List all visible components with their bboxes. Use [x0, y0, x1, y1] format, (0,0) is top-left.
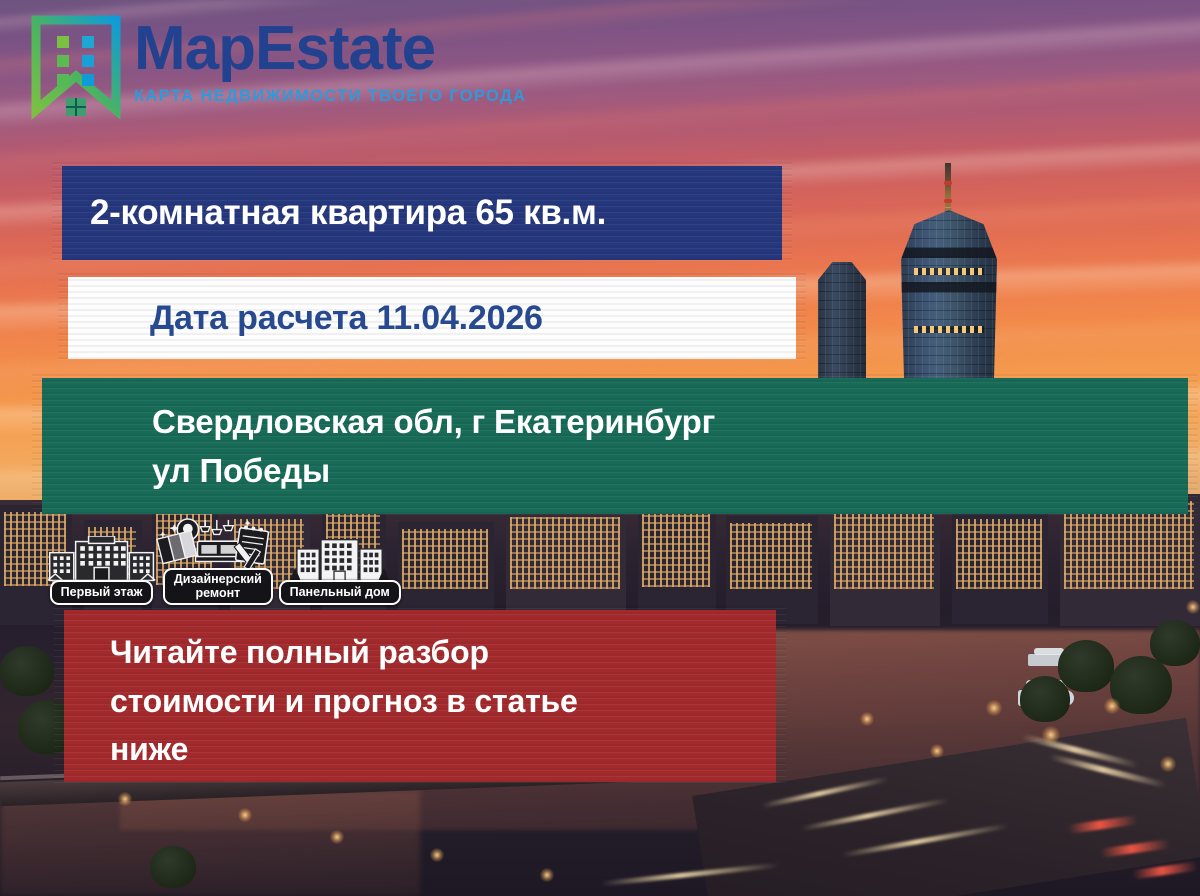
address-text: Свердловская обл, г Екатеринбург ул Побе… [42, 378, 715, 495]
brand-tagline: КАРТА НЕДВИЖИМОСТИ ТВОЕГО ГОРОДА [134, 87, 526, 106]
badge-designer-renovation[interactable]: Дизайнерский ремонт [155, 518, 281, 605]
brand-name-estate: Estate [255, 14, 435, 83]
river-water-lower [0, 790, 420, 896]
panel-building-icon [284, 536, 395, 586]
cta-text: Читайте полный разбор стоимости и прогно… [64, 610, 578, 774]
brand-name: MapEstate [134, 18, 526, 80]
badge-designer-label: Дизайнерский ремонт [163, 568, 273, 605]
cta-line-3: ниже [110, 725, 578, 774]
address-line-2: ул Победы [152, 447, 715, 496]
designer-renovation-icon [155, 518, 281, 574]
badge-first-floor[interactable]: Первый этаж [46, 536, 157, 605]
cta-banner: Читайте полный разбор стоимости и прогно… [64, 610, 776, 782]
calculation-date-banner: Дата расчета 11.04.2026 [68, 277, 796, 359]
address-banner: Свердловская обл, г Екатеринбург ул Побе… [42, 378, 1188, 514]
feature-badges: Первый этаж [46, 518, 401, 605]
badge-panel-building[interactable]: Панельный дом [279, 536, 401, 605]
brand-logo[interactable]: MapEstate КАРТА НЕДВИЖИМОСТИ ТВОЕГО ГОРО… [30, 14, 526, 120]
boat-icon [1034, 648, 1064, 655]
building-first-floor-icon [46, 536, 157, 586]
map-pin-building-icon [30, 14, 122, 120]
brand-wordmark: MapEstate КАРТА НЕДВИЖИМОСТИ ТВОЕГО ГОРО… [134, 14, 526, 106]
cta-line-2: стоимости и прогноз в статье [110, 677, 578, 726]
property-type-banner: 2-комнатная квартира 65 кв.м. [62, 166, 782, 260]
badge-first-floor-label: Первый этаж [50, 580, 154, 605]
poster-canvas: MapEstate КАРТА НЕДВИЖИМОСТИ ТВОЕГО ГОРО… [0, 0, 1200, 896]
property-type-text: 2-комнатная квартира 65 кв.м. [62, 193, 606, 233]
cta-line-1: Читайте полный разбор [110, 628, 578, 677]
badge-panel-label: Панельный дом [279, 580, 401, 605]
brand-name-map: Map [134, 14, 255, 83]
address-line-1: Свердловская обл, г Екатеринбург [152, 398, 715, 447]
calculation-date-text: Дата расчета 11.04.2026 [68, 299, 543, 338]
